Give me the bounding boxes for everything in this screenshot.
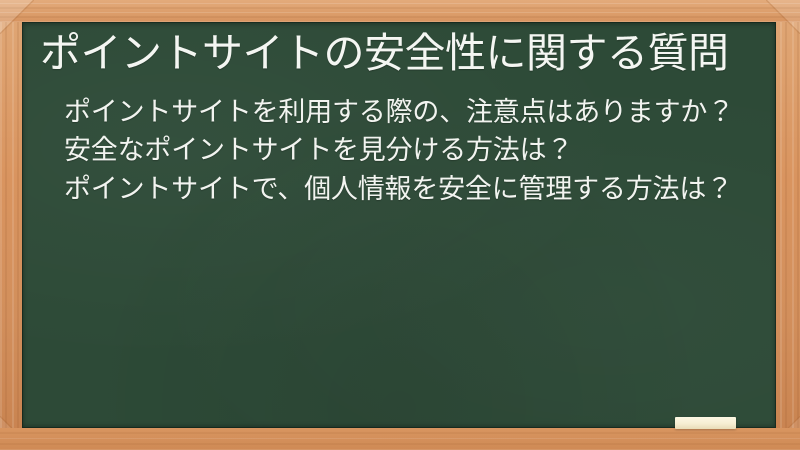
chalk-stick (675, 417, 736, 429)
board-title: ポイントサイトの安全性に関する質問 (32, 30, 766, 78)
question-list: ポイントサイトを利用する際の、注意点はありますか？ 安全なポイントサイトを見分け… (32, 96, 766, 207)
chalkboard-surface: ポイントサイトの安全性に関する質問 ポイントサイトを利用する際の、注意点はありま… (22, 22, 776, 428)
question-item-1: ポイントサイトを利用する際の、注意点はありますか？ (64, 96, 744, 130)
chalkboard-slide: ポイントサイトの安全性に関する質問 ポイントサイトを利用する際の、注意点はありま… (0, 0, 800, 450)
board-content: ポイントサイトの安全性に関する質問 ポイントサイトを利用する際の、注意点はありま… (22, 22, 776, 207)
question-item-3: ポイントサイトで、個人情報を安全に管理する方法は？ (64, 173, 744, 207)
question-item-2: 安全なポイントサイトを見分ける方法は？ (64, 134, 744, 168)
